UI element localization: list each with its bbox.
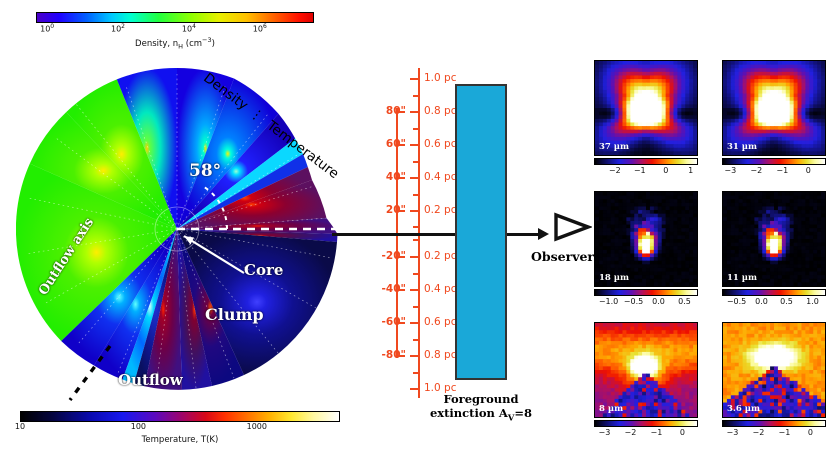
pc-tickmark-6 xyxy=(410,289,420,291)
slab-caption-line2-post: =8 xyxy=(514,406,532,420)
panel-4-tick-2: −1 xyxy=(650,428,662,437)
panel-4-tick-0: −3 xyxy=(598,428,610,437)
slab-caption-line1: Foreground xyxy=(443,392,518,406)
panel-colorbar-ticks-3: −0.50.00.51.0 xyxy=(722,297,826,309)
panel-3-tick-0: −0.5 xyxy=(727,297,746,306)
pc-minor-tick-4 xyxy=(413,226,420,228)
pc-tickmark-5 xyxy=(410,256,420,258)
pc-label-6: 0.4 pc xyxy=(424,283,456,295)
panel-wavelength-label-2: 18 µm xyxy=(599,273,629,283)
wedge-circle-svg xyxy=(16,68,338,390)
slab-caption-line2-pre: extinction A xyxy=(430,406,508,420)
panel-0-tick-3: 1 xyxy=(688,166,693,175)
panel-2-tick-1: −0.5 xyxy=(624,297,643,306)
pc-label-1: 0.8 pc xyxy=(424,105,456,117)
panel-intensity-map-3 xyxy=(723,192,825,286)
pc-label-8: 0.8 pc xyxy=(424,349,456,361)
observer-label: Observer xyxy=(531,249,594,264)
panel-colorbar-1 xyxy=(722,158,826,165)
panel-5-tick-0: −3 xyxy=(726,428,738,437)
pc-tickmark-4 xyxy=(410,210,420,212)
pc-label-3: 0.4 pc xyxy=(424,171,456,183)
pc-minor-tick-6 xyxy=(413,273,420,275)
sight-line-arrowhead xyxy=(538,228,549,240)
panel-0-tick-2: 0 xyxy=(663,166,668,175)
pc-label-7: 0.6 pc xyxy=(424,316,456,328)
pc-minor-tick-5 xyxy=(413,239,420,241)
panel-4-tick-1: −2 xyxy=(624,428,636,437)
density-colorbar-gradient xyxy=(36,12,314,23)
pc-tickmark-3 xyxy=(410,177,420,179)
pc-label-2: 0.6 pc xyxy=(424,138,456,150)
wedge-label-clump: Clump xyxy=(205,305,264,324)
pc-minor-tick-0 xyxy=(413,95,420,97)
pc-minor-tick-8 xyxy=(413,339,420,341)
density-tick-3: 106 xyxy=(253,23,267,34)
panel-1-tick-2: −1 xyxy=(776,166,788,175)
density-tick-1: 102 xyxy=(111,23,125,34)
panel-wavelength-label-3: 11 µm xyxy=(727,273,757,283)
density-tick-0: 100 xyxy=(40,23,54,34)
panel-1-tick-1: −2 xyxy=(750,166,762,175)
panel-1-tick-3: 0 xyxy=(806,166,811,175)
panel-colorbar-ticks-1: −3−2−10 xyxy=(722,166,826,178)
panel-colorbar-3 xyxy=(722,289,826,296)
temperature-tick-0: 10 xyxy=(15,422,25,431)
panel-colorbar-ticks-2: −1.0−0.50.00.5 xyxy=(594,297,698,309)
panel-colorbar-2 xyxy=(594,289,698,296)
panel-intensity-map-1 xyxy=(723,61,825,155)
panel-colorbar-4 xyxy=(594,420,698,427)
temperature-colorbar-gradient xyxy=(20,411,340,422)
image-panel-4: 8 µm−3−2−10 xyxy=(594,322,698,440)
panel-1-tick-0: −3 xyxy=(724,166,736,175)
pc-minor-tick-3 xyxy=(413,194,420,196)
pc-minor-tick-9 xyxy=(413,372,420,374)
pc-tickmark-7 xyxy=(410,322,420,324)
panel-wavelength-label-4: 8 µm xyxy=(599,404,623,414)
sight-line xyxy=(332,233,542,236)
pc-label-0: 1.0 pc xyxy=(424,72,456,84)
pc-label-5: 0.2 pc xyxy=(424,250,456,262)
image-panel-1: 31 µm−3−2−10 xyxy=(722,60,826,178)
panel-0-tick-0: −2 xyxy=(609,166,621,175)
panel-5-tick-1: −2 xyxy=(752,428,764,437)
pc-tickmark-1 xyxy=(410,111,420,113)
pc-minor-tick-2 xyxy=(413,161,420,163)
panel-2-tick-2: 0.0 xyxy=(652,297,665,306)
panel-image-1: 31 µm xyxy=(722,60,826,156)
panel-image-2: 18 µm xyxy=(594,191,698,287)
wedge-angle-label: 58° xyxy=(189,161,221,181)
pc-tickmark-0 xyxy=(410,78,420,80)
panel-3-tick-1: 0.0 xyxy=(755,297,768,306)
panel-3-tick-2: 0.5 xyxy=(780,297,793,306)
pc-minor-tick-1 xyxy=(413,128,420,130)
panel-5-tick-3: 0 xyxy=(808,428,813,437)
wedge-label-outflow: Outflow xyxy=(118,371,183,389)
panel-2-tick-3: 0.5 xyxy=(678,297,691,306)
density-colorbar-title: Density, nH (cm−3) xyxy=(36,36,314,51)
temperature-colorbar-ticks: 101001000 xyxy=(20,422,340,435)
panel-wavelength-label-0: 37 µm xyxy=(599,142,629,152)
density-colorbar-ticks: 100102104106 xyxy=(36,23,314,36)
panel-intensity-map-2 xyxy=(595,192,697,286)
density-colorbar: 100102104106 Density, nH (cm−3) xyxy=(36,12,314,51)
observer-eye-icon xyxy=(552,212,592,242)
wedge-diagram: Clump Outflow Core Outflow axis 58° Dens… xyxy=(8,62,348,406)
panel-intensity-map-4 xyxy=(595,323,697,417)
panel-image-3: 11 µm xyxy=(722,191,826,287)
temperature-tick-2: 1000 xyxy=(247,422,267,431)
temperature-colorbar-title: Temperature, T(K) xyxy=(20,435,340,445)
panel-colorbar-5 xyxy=(722,420,826,427)
pc-label-4: 0.2 pc xyxy=(424,204,456,216)
synthetic-image-panel-grid: 37 µm−2−10131 µm−3−2−1018 µm−1.0−0.50.00… xyxy=(594,60,830,455)
panel-wavelength-label-1: 31 µm xyxy=(727,142,757,152)
pc-tickmark-2 xyxy=(410,144,420,146)
foreground-extinction-slab xyxy=(455,84,507,380)
panel-colorbar-0 xyxy=(594,158,698,165)
image-panel-3: 11 µm−0.50.00.51.0 xyxy=(722,191,826,309)
wedge-label-core: Core xyxy=(244,261,283,279)
panel-3-tick-3: 1.0 xyxy=(806,297,819,306)
pc-minor-tick-7 xyxy=(413,306,420,308)
foreground-extinction-caption: Foreground extinction AV=8 xyxy=(396,392,566,424)
temperature-tick-1: 100 xyxy=(131,422,146,431)
panel-colorbar-ticks-4: −3−2−10 xyxy=(594,428,698,440)
panel-image-0: 37 µm xyxy=(594,60,698,156)
image-panel-2: 18 µm−1.0−0.50.00.5 xyxy=(594,191,698,309)
panel-2-tick-0: −1.0 xyxy=(599,297,618,306)
panel-colorbar-ticks-0: −2−101 xyxy=(594,166,698,178)
density-tick-2: 104 xyxy=(182,23,196,34)
panel-intensity-map-0 xyxy=(595,61,697,155)
pc-tickmark-9 xyxy=(410,388,420,390)
pc-tickmark-8 xyxy=(410,355,420,357)
image-panel-5: 3.6 µm−3−2−10 xyxy=(722,322,826,440)
panel-image-4: 8 µm xyxy=(594,322,698,418)
panel-5-tick-2: −1 xyxy=(778,428,790,437)
panel-4-tick-3: 0 xyxy=(680,428,685,437)
temperature-colorbar: 101001000 Temperature, T(K) xyxy=(20,411,340,445)
panel-intensity-map-5 xyxy=(723,323,825,417)
panel-image-5: 3.6 µm xyxy=(722,322,826,418)
panel-0-tick-1: −1 xyxy=(634,166,646,175)
image-panel-0: 37 µm−2−101 xyxy=(594,60,698,178)
panel-colorbar-ticks-5: −3−2−10 xyxy=(722,428,826,440)
panel-wavelength-label-5: 3.6 µm xyxy=(727,404,760,414)
